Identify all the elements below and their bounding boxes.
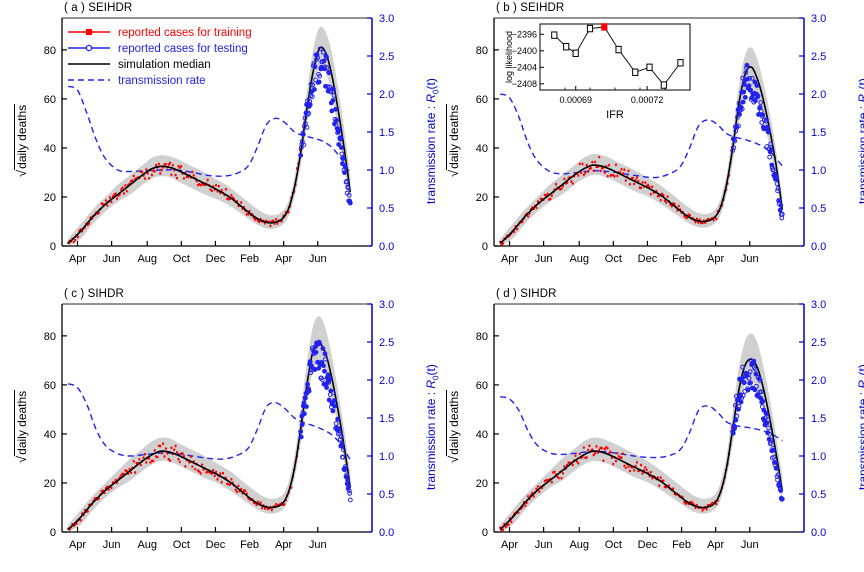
y-tick-right: 2.5	[811, 51, 826, 63]
legend-label: simulation median	[118, 59, 211, 71]
y-tick-right: 2.0	[379, 375, 394, 387]
x-tick-label: Aug	[137, 253, 157, 265]
simulation-median-line-a	[68, 47, 350, 243]
panel-b: ( b ) SEIHDR√daily deathstransmission ra…	[432, 0, 864, 286]
x-tick-label: Jun	[103, 253, 121, 265]
inset-data-point	[616, 46, 621, 52]
inset-loglikelihood-vs-ifr: −2396−2400−2404−24080.000690.00072IFRlog…	[504, 24, 690, 121]
y-tick-right: 0.5	[811, 489, 826, 501]
y-tick-right: 2.5	[811, 337, 826, 349]
y-tick-left: 80	[476, 331, 488, 343]
y-tick-right: 0.0	[379, 527, 394, 539]
y-tick-left: 60	[476, 94, 488, 106]
y-tick-right: 0.5	[379, 489, 394, 501]
y-tick-right: 2.0	[379, 89, 394, 101]
x-tick-label: Dec	[638, 539, 658, 551]
y-tick-right: 0.5	[811, 203, 826, 215]
testing-data-b	[731, 63, 784, 220]
x-tick-label: Oct	[605, 253, 622, 265]
x-tick-label: Jun	[309, 253, 327, 265]
inset-x-tick: 0.00069	[559, 95, 592, 105]
inset-data-point	[587, 25, 592, 31]
y-tick-left: 60	[476, 380, 488, 392]
y-tick-left: 80	[44, 331, 56, 343]
plot-area-d: 0204060800.00.51.01.52.02.53.0AprJunAugO…	[432, 286, 864, 572]
inset-data-point	[573, 50, 578, 56]
y-tick-left: 20	[476, 478, 488, 490]
y-tick-right: 1.5	[811, 413, 826, 425]
x-tick-label: Dec	[206, 539, 226, 551]
legend-item-1: reported cases for testing	[68, 43, 248, 55]
y-tick-right: 1.0	[379, 451, 394, 463]
y-tick-left: 0	[50, 527, 56, 539]
x-tick-label: Apr	[707, 253, 724, 265]
figure-root: ( a ) SEIHDR√daily deathstransmission ra…	[0, 0, 864, 572]
inset-data-point	[678, 60, 683, 66]
inset-data-point	[602, 24, 607, 30]
uncertainty-band-c	[68, 316, 350, 532]
y-tick-left: 20	[476, 192, 488, 204]
x-tick-label: Apr	[501, 253, 518, 265]
y-tick-left: 80	[44, 45, 56, 57]
y-tick-left: 0	[482, 241, 488, 253]
y-tick-right: 1.0	[811, 165, 826, 177]
y-tick-right: 0.0	[811, 527, 826, 539]
x-tick-label: Jun	[535, 539, 553, 551]
x-tick-label: Feb	[240, 253, 259, 265]
inset-data-point	[564, 43, 569, 49]
y-tick-right: 1.0	[811, 451, 826, 463]
x-tick-label: Jun	[741, 253, 759, 265]
inset-x-tick: 0.00072	[631, 95, 664, 105]
x-tick-label: Apr	[275, 253, 292, 265]
x-tick-label: Jun	[309, 539, 327, 551]
y-tick-right: 1.5	[379, 127, 394, 139]
x-tick-label: Feb	[240, 539, 259, 551]
y-tick-right: 2.0	[811, 89, 826, 101]
x-tick-label: Jun	[741, 539, 759, 551]
inset-y-tick: −2400	[512, 46, 537, 56]
plot-area-c: 0204060800.00.51.01.52.02.53.0AprJunAugO…	[0, 286, 432, 572]
transmission-rate-line-d	[500, 397, 782, 458]
panel-title-d: ( d ) SIHDR	[496, 288, 557, 300]
y-tick-right: 1.0	[379, 165, 394, 177]
legend-item-2: simulation median	[68, 59, 211, 71]
legend-label: reported cases for testing	[118, 43, 248, 55]
y-tick-left: 40	[44, 429, 56, 441]
x-tick-label: Apr	[501, 539, 518, 551]
x-tick-label: Aug	[569, 539, 589, 551]
x-tick-label: Apr	[69, 253, 86, 265]
y-tick-right: 3.0	[811, 13, 826, 25]
panel-a: ( a ) SEIHDR√daily deathstransmission ra…	[0, 0, 432, 286]
inset-data-point	[552, 32, 557, 38]
x-tick-label: Oct	[605, 539, 622, 551]
y-tick-right: 0.0	[811, 241, 826, 253]
uncertainty-band-d	[500, 333, 782, 532]
inset-data-point	[661, 82, 666, 88]
plot-area-a: 0204060800.00.51.01.52.02.53.0AprJunAugO…	[0, 0, 432, 286]
inset-y-axis-label: log likelihood	[504, 31, 514, 83]
inset-data-point	[647, 64, 652, 70]
legend-label: transmission rate	[118, 75, 206, 87]
x-tick-label: Feb	[672, 539, 691, 551]
y-axis-label-left-d: √daily deaths	[446, 390, 461, 463]
legend-item-0: reported cases for training	[68, 27, 252, 39]
panel-title-b: ( b ) SEIHDR	[496, 2, 564, 14]
y-tick-left: 0	[50, 241, 56, 253]
panel-d: ( d ) SIHDR√daily deathstransmission rat…	[432, 286, 864, 572]
y-tick-right: 3.0	[379, 299, 394, 311]
y-tick-right: 2.0	[811, 375, 826, 387]
y-tick-right: 0.5	[379, 203, 394, 215]
x-tick-label: Apr	[707, 539, 724, 551]
x-tick-label: Aug	[137, 539, 157, 551]
inset-y-tick: −2404	[512, 63, 537, 73]
x-tick-label: Aug	[569, 253, 589, 265]
legend-label: reported cases for training	[118, 27, 252, 39]
legend-item-3: transmission rate	[68, 75, 206, 87]
y-tick-left: 40	[44, 143, 56, 155]
y-tick-right: 1.5	[379, 413, 394, 425]
y-tick-left: 40	[476, 143, 488, 155]
y-tick-right: 1.5	[811, 127, 826, 139]
x-tick-label: Oct	[173, 539, 190, 551]
y-tick-left: 80	[476, 45, 488, 57]
x-tick-label: Jun	[535, 253, 553, 265]
x-tick-label: Dec	[638, 253, 658, 265]
y-tick-left: 40	[476, 429, 488, 441]
panel-title-a: ( a ) SEIHDR	[64, 2, 132, 14]
y-tick-right: 0.0	[379, 241, 394, 253]
y-tick-left: 60	[44, 380, 56, 392]
x-tick-label: Feb	[672, 253, 691, 265]
inset-y-tick: −2396	[512, 30, 537, 40]
simulation-median-line-d	[500, 359, 782, 529]
y-tick-left: 60	[44, 94, 56, 106]
y-tick-left: 20	[44, 478, 56, 490]
y-tick-right: 3.0	[811, 299, 826, 311]
testing-data-a	[299, 47, 352, 205]
x-tick-label: Dec	[206, 253, 226, 265]
y-axis-label-right-d: transmission rate : R0(t)	[856, 364, 864, 490]
y-tick-right: 2.5	[379, 51, 394, 63]
y-axis-label-left-b: √daily deaths	[446, 104, 461, 177]
x-tick-label: Apr	[69, 539, 86, 551]
inset-x-axis-label: IFR	[606, 109, 624, 121]
y-tick-left: 0	[482, 527, 488, 539]
inset-y-tick: −2408	[512, 79, 537, 89]
legend: reported cases for trainingreported case…	[68, 27, 252, 87]
y-axis-label-left-c: √daily deaths	[14, 390, 29, 463]
y-tick-right: 3.0	[379, 13, 394, 25]
x-tick-label: Oct	[173, 253, 190, 265]
y-axis-label-right-b: transmission rate : R0(t)	[856, 78, 864, 204]
panel-c: ( c ) SIHDR√daily deathstransmission rat…	[0, 286, 432, 572]
panel-title-c: ( c ) SIHDR	[64, 288, 124, 300]
plot-area-b: 0204060800.00.51.01.52.02.53.0AprJunAugO…	[432, 0, 864, 286]
inset-data-point	[633, 69, 638, 75]
y-tick-right: 2.5	[379, 337, 394, 349]
y-tick-left: 20	[44, 192, 56, 204]
y-axis-label-left-a: √daily deaths	[14, 104, 29, 177]
x-tick-label: Jun	[103, 539, 121, 551]
x-tick-label: Apr	[275, 539, 292, 551]
